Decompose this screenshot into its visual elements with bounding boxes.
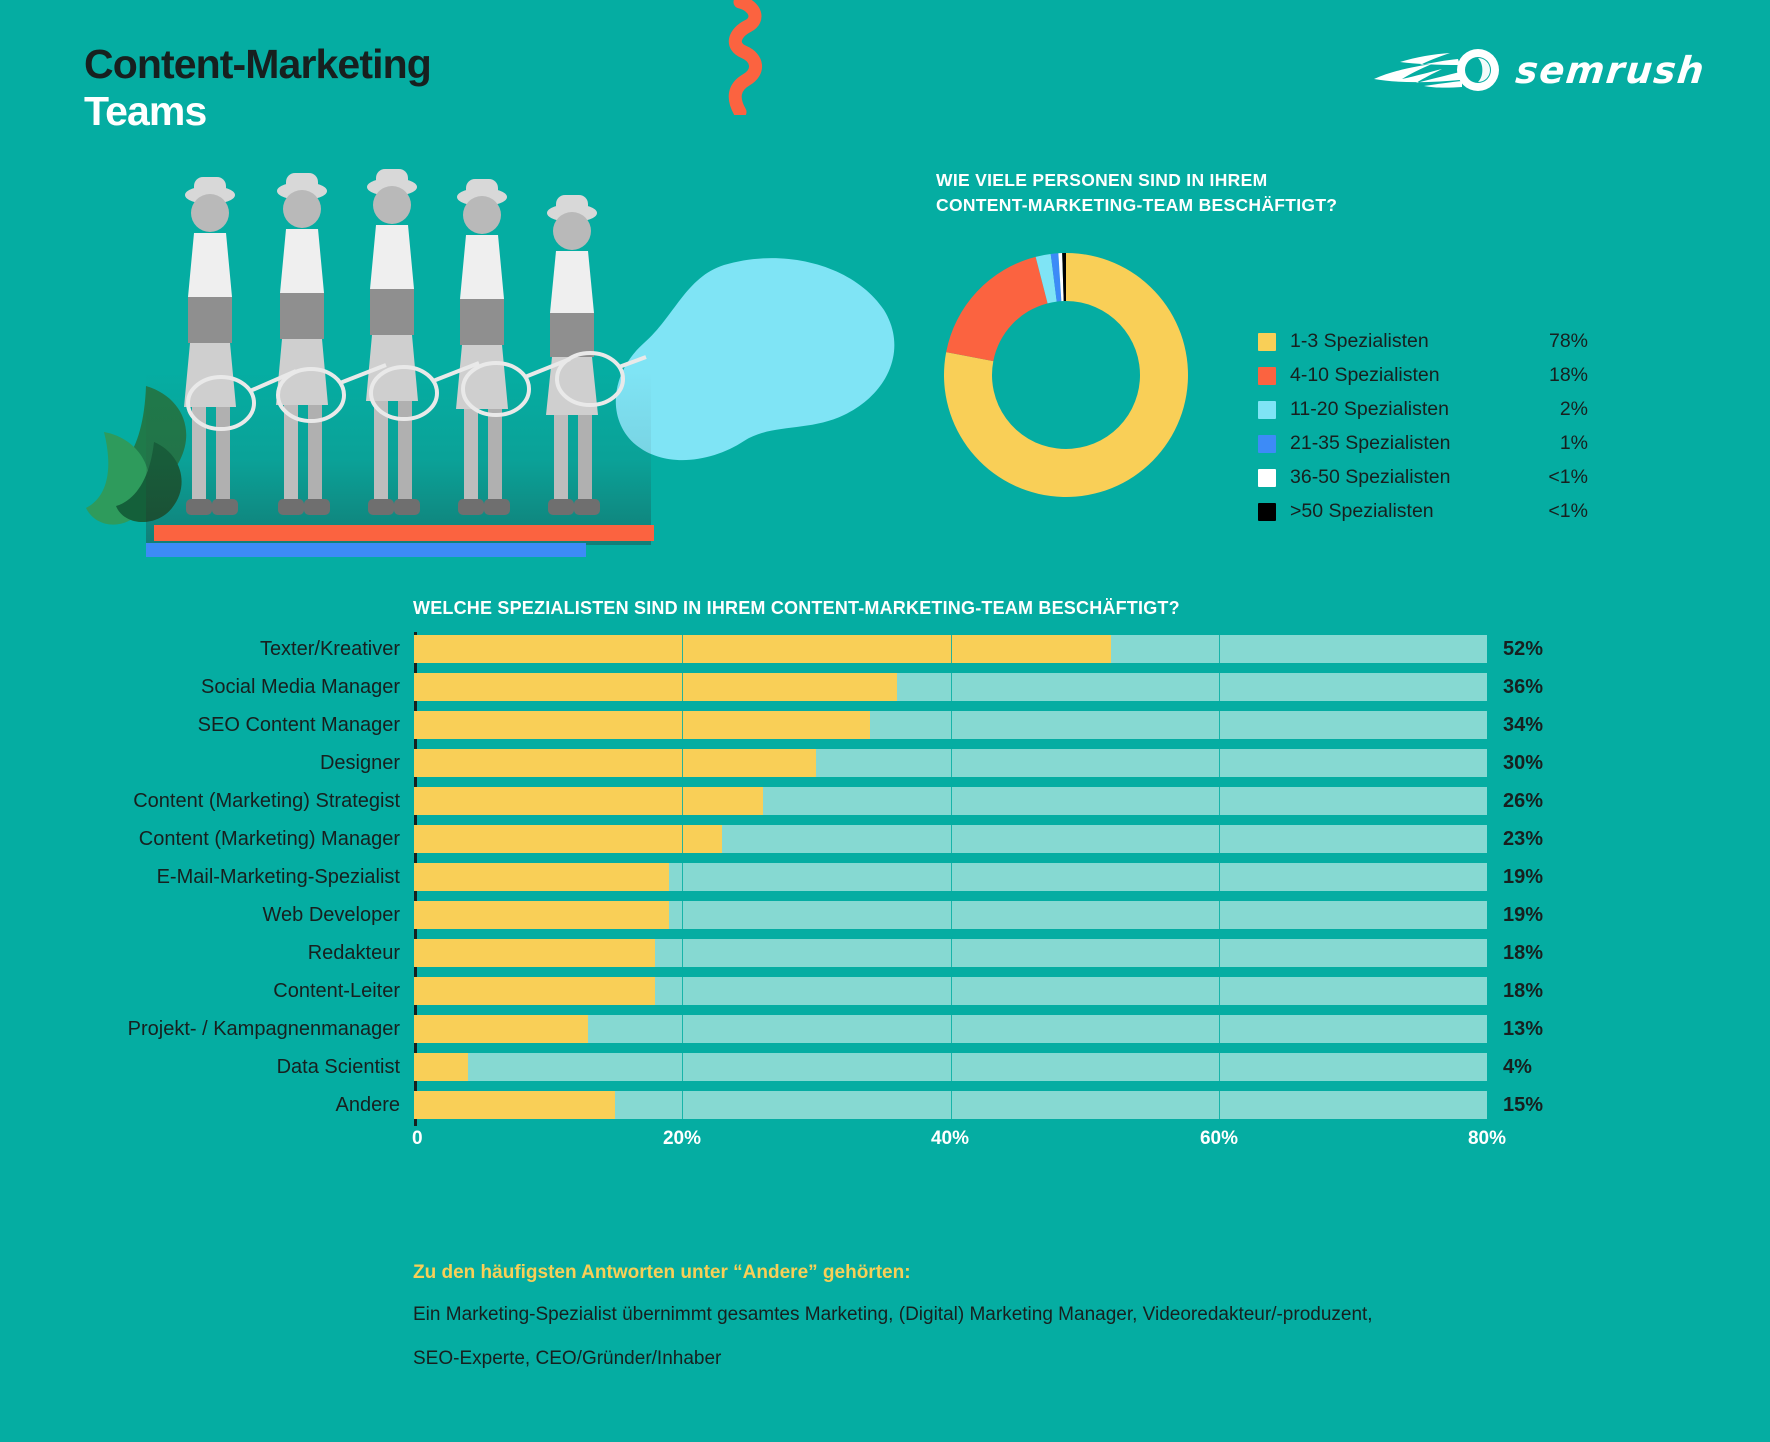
bar-chart-row: Designer30% xyxy=(0,746,1770,780)
bar-chart-row: Projekt- / Kampagnenmanager13% xyxy=(0,1012,1770,1046)
bar-track xyxy=(414,825,1487,853)
bar-track xyxy=(414,863,1487,891)
gridline xyxy=(951,1091,952,1119)
donut-chart xyxy=(936,245,1206,501)
gridline xyxy=(951,1015,952,1043)
gridline xyxy=(951,939,952,967)
gridline xyxy=(682,863,683,891)
bar-fill[interactable] xyxy=(414,939,655,967)
gridline xyxy=(1487,863,1488,891)
bar-value-label: 34% xyxy=(1487,714,1543,737)
gridline xyxy=(1219,1091,1220,1119)
bar-fill[interactable] xyxy=(414,977,655,1005)
legend-swatch-icon xyxy=(1258,401,1276,419)
gridline xyxy=(951,749,952,777)
legend-value: <1% xyxy=(1532,500,1588,523)
gridline xyxy=(682,1015,683,1043)
bar-chart-row: Content-Leiter18% xyxy=(0,974,1770,1008)
bar-category-label: Web Developer xyxy=(0,904,414,927)
legend-swatch-icon xyxy=(1258,503,1276,521)
gridline xyxy=(1487,635,1488,663)
x-axis-tick: 60% xyxy=(1200,1128,1238,1150)
bar-track xyxy=(414,1091,1487,1119)
bar-chart-plot: Texter/Kreativer52%Social Media Manager3… xyxy=(0,632,1770,1168)
semrush-logo-text: semrush xyxy=(1514,49,1708,92)
bar-chart-row: Web Developer19% xyxy=(0,898,1770,932)
gridline xyxy=(1219,901,1220,929)
dancers-photo xyxy=(146,160,651,545)
bar-track xyxy=(414,673,1487,701)
infographic-root: Content-Marketing Teams semrush xyxy=(0,0,1770,1442)
bar-category-label: Data Scientist xyxy=(0,1056,414,1079)
bar-value-label: 19% xyxy=(1487,904,1543,927)
bar-value-label: 23% xyxy=(1487,828,1543,851)
bar-track xyxy=(414,635,1487,663)
bar-fill[interactable] xyxy=(414,673,897,701)
gridline xyxy=(951,787,952,815)
bar-category-label: Designer xyxy=(0,752,414,775)
donut-chart-svg xyxy=(936,245,1196,505)
bar-chart-row: Data Scientist4% xyxy=(0,1050,1770,1084)
page-title: Content-Marketing Teams xyxy=(84,44,431,133)
gridline xyxy=(1219,939,1220,967)
footnote-title: Zu den häufigsten Antworten unter “Ander… xyxy=(413,1262,1593,1284)
orange-accent-bar xyxy=(154,525,654,541)
gridline xyxy=(1219,1015,1220,1043)
gridline xyxy=(1487,787,1488,815)
gridline xyxy=(951,863,952,891)
footnote: Zu den häufigsten Antworten unter “Ander… xyxy=(413,1262,1593,1392)
gridline xyxy=(1487,749,1488,777)
legend-value: 78% xyxy=(1532,330,1588,353)
legend-item[interactable]: 21-35 Spezialisten 1% xyxy=(1258,427,1588,461)
gridline xyxy=(682,901,683,929)
gridline xyxy=(682,939,683,967)
x-axis-tick: 40% xyxy=(931,1128,969,1150)
page-title-line2: Teams xyxy=(84,91,431,133)
legend-label: 21-35 Spezialisten xyxy=(1290,432,1532,455)
bar-category-label: Content (Marketing) Strategist xyxy=(0,790,414,813)
bar-track xyxy=(414,939,1487,967)
bar-fill[interactable] xyxy=(414,711,870,739)
gridline xyxy=(1219,977,1220,1005)
bar-chart-heading: WELCHE SPEZIALISTEN SIND IN IHREM CONTEN… xyxy=(413,598,1180,619)
gridline xyxy=(1219,1053,1220,1081)
footnote-line: SEO-Experte, CEO/Gründer/Inhaber xyxy=(413,1348,1593,1370)
gridline xyxy=(1219,787,1220,815)
bar-fill[interactable] xyxy=(414,1015,588,1043)
bar-fill[interactable] xyxy=(414,901,669,929)
bar-value-label: 19% xyxy=(1487,866,1543,889)
bar-chart-row: Content (Marketing) Strategist26% xyxy=(0,784,1770,818)
gridline xyxy=(1487,1091,1488,1119)
bar-category-label: Content-Leiter xyxy=(0,980,414,1003)
bar-chart-row: E-Mail-Marketing-Spezialist19% xyxy=(0,860,1770,894)
bar-category-label: E-Mail-Marketing-Spezialist xyxy=(0,866,414,889)
legend-value: 2% xyxy=(1532,398,1588,421)
gridline xyxy=(951,1053,952,1081)
bar-chart-row: Content (Marketing) Manager23% xyxy=(0,822,1770,856)
bar-value-label: 15% xyxy=(1487,1094,1543,1117)
bar-category-label: Andere xyxy=(0,1094,414,1117)
gridline xyxy=(951,977,952,1005)
legend-item[interactable]: >50 Spezialisten <1% xyxy=(1258,495,1588,529)
gridline xyxy=(951,901,952,929)
legend-label: 4-10 Spezialisten xyxy=(1290,364,1532,387)
x-axis-tick: 80% xyxy=(1468,1128,1506,1150)
bar-category-label: SEO Content Manager xyxy=(0,714,414,737)
legend-label: >50 Spezialisten xyxy=(1290,500,1532,523)
bar-value-label: 4% xyxy=(1487,1056,1532,1079)
gridline xyxy=(1219,863,1220,891)
bar-fill[interactable] xyxy=(414,1053,468,1081)
legend-item[interactable]: 1-3 Spezialisten 78% xyxy=(1258,325,1588,359)
legend-swatch-icon xyxy=(1258,435,1276,453)
bar-fill[interactable] xyxy=(414,635,1111,663)
legend-value: <1% xyxy=(1532,466,1588,489)
blue-accent-bar xyxy=(146,543,586,557)
bar-value-label: 36% xyxy=(1487,676,1543,699)
footnote-line: Ein Marketing-Spezialist übernimmt gesam… xyxy=(413,1304,1593,1326)
bar-value-label: 18% xyxy=(1487,980,1543,1003)
gridline xyxy=(1487,825,1488,853)
legend-swatch-icon xyxy=(1258,333,1276,351)
gridline xyxy=(1219,711,1220,739)
bar-fill[interactable] xyxy=(414,863,669,891)
gridline xyxy=(682,825,683,853)
gridline xyxy=(951,711,952,739)
bar-fill[interactable] xyxy=(414,787,763,815)
bar-fill[interactable] xyxy=(414,825,722,853)
bar-category-label: Redakteur xyxy=(0,942,414,965)
gridline xyxy=(1219,825,1220,853)
gridline xyxy=(682,673,683,701)
gridline xyxy=(1487,977,1488,1005)
legend-value: 18% xyxy=(1532,364,1588,387)
gridline xyxy=(682,1053,683,1081)
bar-chart-row: Texter/Kreativer52% xyxy=(0,632,1770,666)
bar-value-label: 13% xyxy=(1487,1018,1543,1041)
bar-track xyxy=(414,977,1487,1005)
legend-label: 1-3 Spezialisten xyxy=(1290,330,1532,353)
semrush-flame-comet-icon xyxy=(1372,46,1502,94)
legend-swatch-icon xyxy=(1258,469,1276,487)
bar-value-label: 26% xyxy=(1487,790,1543,813)
legend-item[interactable]: 11-20 Spezialisten 2% xyxy=(1258,393,1588,427)
legend-value: 1% xyxy=(1532,432,1588,455)
gridline xyxy=(1487,711,1488,739)
gridline xyxy=(682,711,683,739)
x-axis-tick: 20% xyxy=(663,1128,701,1150)
bar-chart-row: Andere15% xyxy=(0,1088,1770,1122)
legend-item[interactable]: 36-50 Spezialisten <1% xyxy=(1258,461,1588,495)
legend-label: 11-20 Spezialisten xyxy=(1290,398,1532,421)
gridline xyxy=(682,635,683,663)
gridline xyxy=(1487,1015,1488,1043)
bar-chart-row: Social Media Manager36% xyxy=(0,670,1770,704)
bar-track xyxy=(414,1015,1487,1043)
squiggle-decoration-icon xyxy=(648,0,818,115)
gridline xyxy=(1219,673,1220,701)
page-title-line1: Content-Marketing xyxy=(84,44,431,86)
bar-category-label: Social Media Manager xyxy=(0,676,414,699)
bar-chart-row: Redakteur18% xyxy=(0,936,1770,970)
gridline xyxy=(682,1091,683,1119)
gridline xyxy=(1219,635,1220,663)
bar-track xyxy=(414,711,1487,739)
bar-chart-row: SEO Content Manager34% xyxy=(0,708,1770,742)
gridline xyxy=(951,825,952,853)
donut-heading-line1: WIE VIELE PERSONEN SIND IN IHREM xyxy=(936,168,1716,193)
photo-collage xyxy=(84,150,824,580)
gridline xyxy=(682,749,683,777)
donut-chart-section: WIE VIELE PERSONEN SIND IN IHREM CONTENT… xyxy=(936,168,1716,529)
gridline xyxy=(1487,1053,1488,1081)
gridline xyxy=(951,635,952,663)
bar-category-label: Content (Marketing) Manager xyxy=(0,828,414,851)
bar-fill[interactable] xyxy=(414,1091,615,1119)
gridline xyxy=(1219,749,1220,777)
legend-label: 36-50 Spezialisten xyxy=(1290,466,1532,489)
gridline xyxy=(1487,673,1488,701)
x-axis-tick: 0 xyxy=(412,1128,423,1150)
bar-value-label: 18% xyxy=(1487,942,1543,965)
bar-fill[interactable] xyxy=(414,749,816,777)
bar-track xyxy=(414,1053,1487,1081)
tennis-rackets-icon xyxy=(146,345,651,455)
legend-swatch-icon xyxy=(1258,367,1276,385)
bar-track xyxy=(414,787,1487,815)
gridline xyxy=(682,977,683,1005)
bar-value-label: 30% xyxy=(1487,752,1543,775)
bar-category-label: Texter/Kreativer xyxy=(0,638,414,661)
bar-value-label: 52% xyxy=(1487,638,1543,661)
donut-chart-heading: WIE VIELE PERSONEN SIND IN IHREM CONTENT… xyxy=(936,168,1716,219)
gridline xyxy=(1487,901,1488,929)
donut-heading-line2: CONTENT-MARKETING-TEAM BESCHÄFTIGT? xyxy=(936,193,1716,218)
gridline xyxy=(951,673,952,701)
gridline xyxy=(1487,939,1488,967)
bar-track xyxy=(414,749,1487,777)
donut-legend: 1-3 Spezialisten 78% 4-10 Spezialisten 1… xyxy=(1258,325,1588,529)
donut-slice[interactable] xyxy=(946,257,1047,361)
bar-track xyxy=(414,901,1487,929)
bar-category-label: Projekt- / Kampagnenmanager xyxy=(0,1018,414,1041)
gridline xyxy=(682,787,683,815)
legend-item[interactable]: 4-10 Spezialisten 18% xyxy=(1258,359,1588,393)
semrush-logo: semrush xyxy=(1372,46,1705,94)
x-axis: 0 20% 40% 60% 80% xyxy=(414,1128,1487,1168)
